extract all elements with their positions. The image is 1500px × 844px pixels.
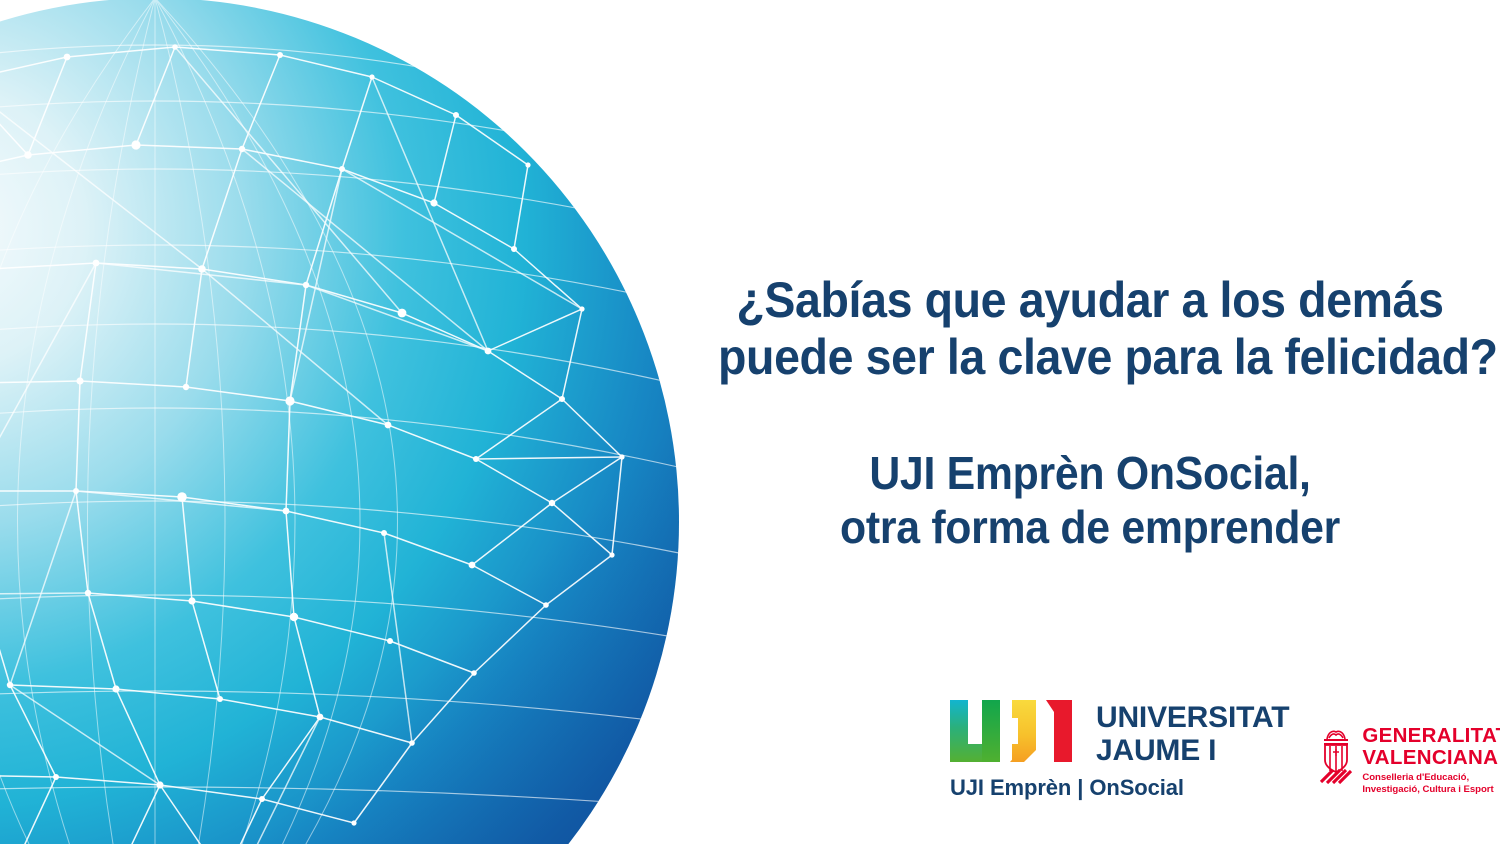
headline-line-1: ¿Sabías que ayudar a los demás [718,272,1462,329]
generalitat-valenciana-logo: GENERALITAT VALENCIANA Conselleria d'Edu… [1317,726,1500,795]
network-globe-graphic [0,0,680,844]
globe-wireframe [0,0,679,844]
gva-subtitle-line-2: Investigació, Cultura i Esport [1362,784,1500,796]
globe-sphere [0,0,679,844]
gva-line-2: VALENCIANA [1362,748,1500,769]
uji-wordmark-line-1: UNIVERSITAT [1096,701,1289,734]
valencian-crown-bat-emblem-icon [1317,726,1355,784]
uji-logo-top: UNIVERSITAT JAUME I [950,700,1289,766]
uji-logo-lockup: UNIVERSITAT JAUME I UJI Emprèn | OnSocia… [950,700,1289,801]
subline-block: UJI Emprèn OnSocial, otra forma de empre… [690,447,1490,555]
subline-line-1: UJI Emprèn OnSocial, [718,447,1462,501]
gva-text-block: GENERALITAT VALENCIANA Conselleria d'Edu… [1362,726,1500,795]
mesh-edges [0,47,622,844]
gva-line-1: GENERALITAT [1362,726,1500,747]
slide-canvas: ¿Sabías que ayudar a los demás puede ser… [0,0,1500,844]
subline-line-2: otra forma de emprender [718,501,1462,555]
globe-svg [0,0,680,844]
gva-department-subtitle: Conselleria d'Educació, Investigació, Cu… [1362,772,1500,795]
mesh-nodes [0,44,625,844]
logo-row: UNIVERSITAT JAUME I UJI Emprèn | OnSocia… [950,700,1490,822]
uji-wordmark-line-2: JAUME I [1096,736,1289,766]
headline-line-2: puede ser la clave para la felicidad? [718,329,1462,386]
globe-shading [0,0,679,844]
uji-wordmark: UNIVERSITAT JAUME I [1096,700,1289,766]
uji-tagline: UJI Emprèn | OnSocial [950,775,1184,801]
slide-copy: ¿Sabías que ayudar a los demás puede ser… [690,272,1490,555]
uji-monogram-icon [950,700,1082,762]
gva-subtitle-line-1: Conselleria d'Educació, [1362,772,1500,784]
